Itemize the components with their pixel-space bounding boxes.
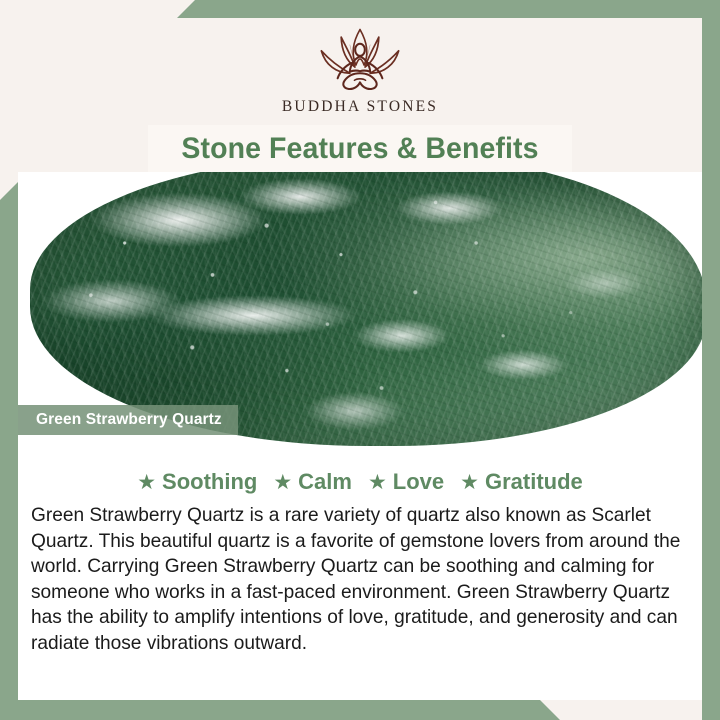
benefit-label: Love xyxy=(393,469,444,495)
benefit-label: Soothing xyxy=(162,469,257,495)
stone-name-badge: Green Strawberry Quartz xyxy=(18,405,238,435)
brand-header: BUDDHA STONES xyxy=(0,18,720,123)
stone-features-infographic: BUDDHA STONES Stone Features & Benefits … xyxy=(0,0,720,720)
benefit-item: ★ Soothing xyxy=(137,469,257,495)
benefit-label: Gratitude xyxy=(485,469,583,495)
section-title-band: Stone Features & Benefits xyxy=(148,125,572,172)
frame-accent-left xyxy=(0,182,18,720)
star-icon: ★ xyxy=(460,472,479,493)
star-icon: ★ xyxy=(368,472,387,493)
frame-accent-bottom xyxy=(0,700,560,720)
lotus-meditation-icon xyxy=(299,24,421,96)
page-title: Stone Features & Benefits xyxy=(181,132,538,166)
stone-description: Green Strawberry Quartz is a rare variet… xyxy=(31,503,689,657)
benefit-item: ★ Love xyxy=(368,469,444,495)
benefit-item: ★ Gratitude xyxy=(460,469,583,495)
stone-photo: Green Strawberry Quartz xyxy=(18,172,702,448)
star-icon: ★ xyxy=(137,472,156,493)
benefit-label: Calm xyxy=(298,469,352,495)
benefits-list: ★ Soothing ★ Calm ★ Love ★ Gratitude xyxy=(18,466,702,498)
star-icon: ★ xyxy=(273,472,292,493)
brand-wordmark: BUDDHA STONES xyxy=(282,98,438,116)
stone-name-label: Green Strawberry Quartz xyxy=(36,411,222,429)
benefit-item: ★ Calm xyxy=(273,469,352,495)
